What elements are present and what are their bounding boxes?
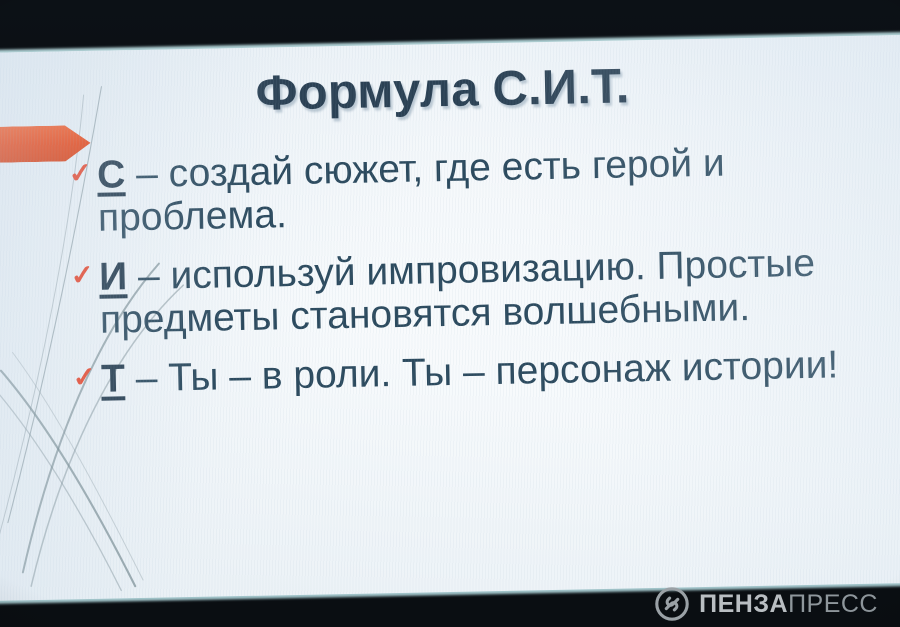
photograph-of-projected-slide: Формула С.И.Т. ✓ С – создай сюжет, где е… <box>0 0 900 627</box>
projection-screen: Формула С.И.Т. ✓ С – создай сюжет, где е… <box>0 35 900 601</box>
bullet-text: – используй импровизацию. Простые предме… <box>100 242 816 342</box>
slide-title: Формула С.И.Т. <box>0 53 900 127</box>
watermark-name-bold: ПЕНЗА <box>699 590 788 618</box>
red-checkmark-icon: ✓ <box>67 159 93 188</box>
watermark-name-light: ПРЕСС <box>788 590 878 618</box>
bullet-text: – создай сюжет, где есть герой и проблем… <box>98 142 726 240</box>
bullet-key-letter: И <box>99 255 128 299</box>
watermark: ПЕНЗАПРЕСС <box>655 587 878 621</box>
bullet-key-letter: Т <box>101 357 126 400</box>
penzapress-link-logo-icon <box>655 587 689 621</box>
bullet-text: – Ты – в роли. Ты – персонаж истории! <box>125 343 839 400</box>
slide-surface: Формула С.И.Т. ✓ С – создай сюжет, где е… <box>0 35 900 601</box>
watermark-text: ПЕНЗАПРЕСС <box>699 592 878 617</box>
slide-bullet-list: ✓ С – создай сюжет, где есть герой и про… <box>97 140 874 413</box>
bullet-paragraph: И – используй импровизацию. Простые пред… <box>99 242 816 342</box>
red-checkmark-icon: ✓ <box>71 363 97 392</box>
bullet-paragraph: Т – Ты – в роли. Ты – персонаж истории! <box>101 343 839 400</box>
bullet-key-letter: С <box>97 153 126 197</box>
bullet-item-t: ✓ Т – Ты – в роли. Ты – персонаж истории… <box>101 343 874 401</box>
bullet-paragraph: С – создай сюжет, где есть герой и пробл… <box>97 142 725 240</box>
red-checkmark-icon: ✓ <box>69 261 95 290</box>
bullet-item-i: ✓ И – используй импровизацию. Простые пр… <box>99 241 873 342</box>
bullet-item-s: ✓ С – создай сюжет, где есть герой и про… <box>97 140 871 241</box>
